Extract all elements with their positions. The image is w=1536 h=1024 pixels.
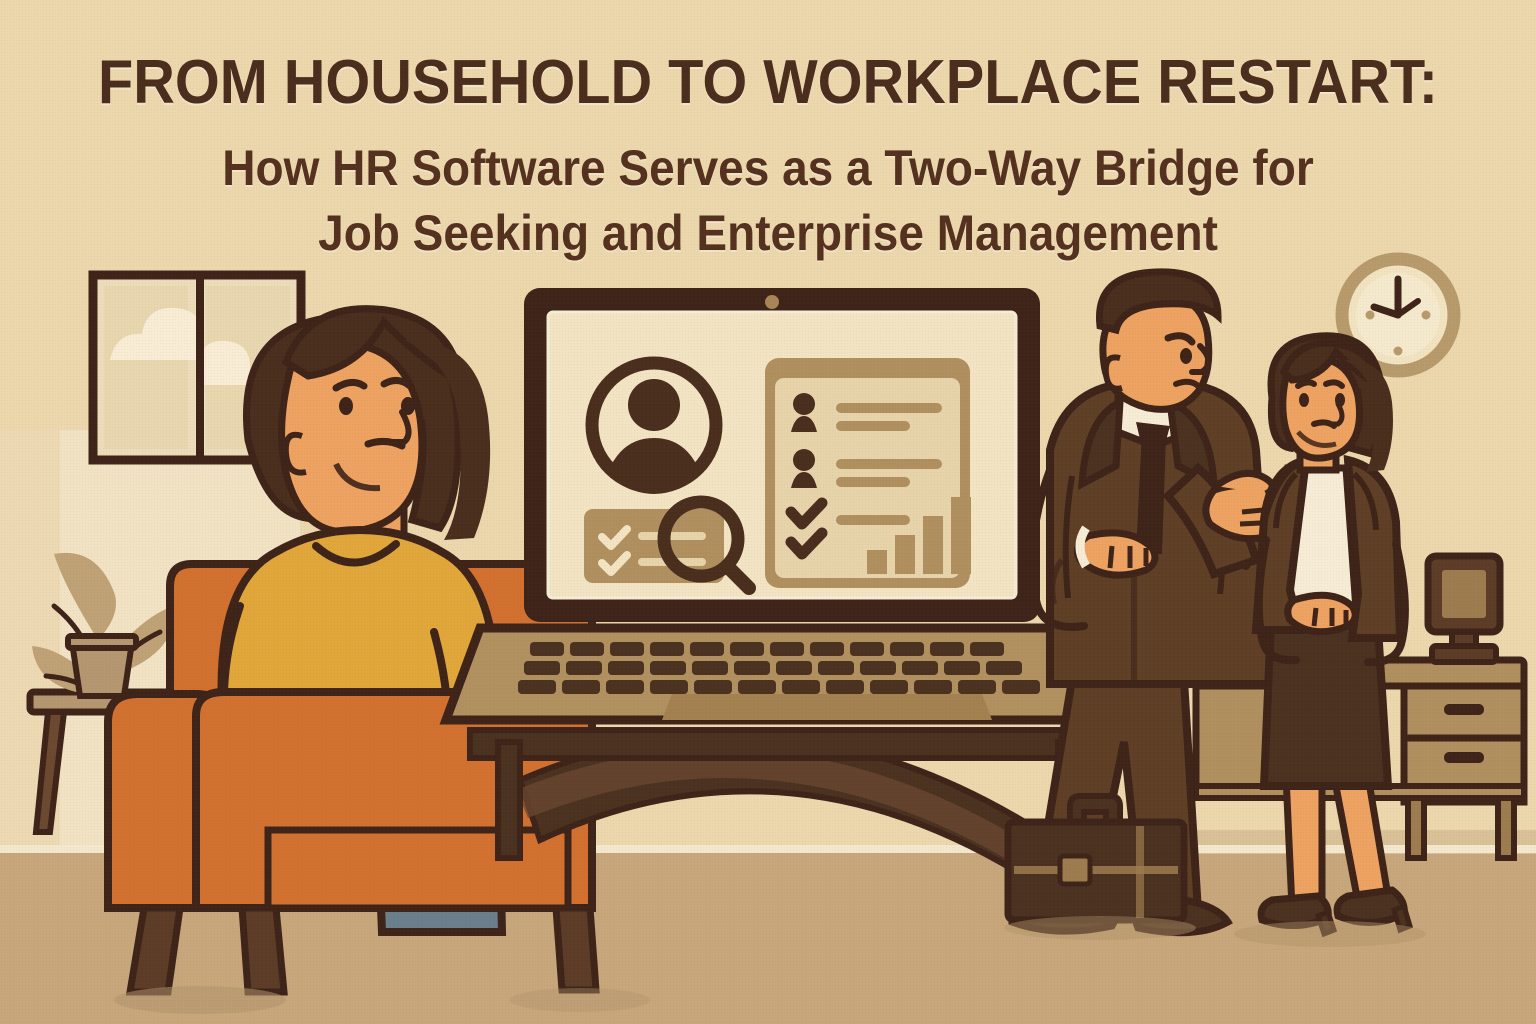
laptop-trackpad [662,694,992,720]
desk-monitor [1428,556,1500,662]
drawer-handle [1444,752,1484,763]
laptop-screen-content [584,358,971,588]
webcam-icon [765,295,779,309]
hr-software-laptop [446,288,1118,720]
briefcase-latch [1060,856,1090,884]
scene-svg [0,0,1536,1024]
candidate-list-window [765,358,971,588]
drawer-handle [1444,704,1484,715]
illustration-canvas: FROM HOUSEHOLD TO WORKPLACE RESTART: How… [0,0,1536,1024]
